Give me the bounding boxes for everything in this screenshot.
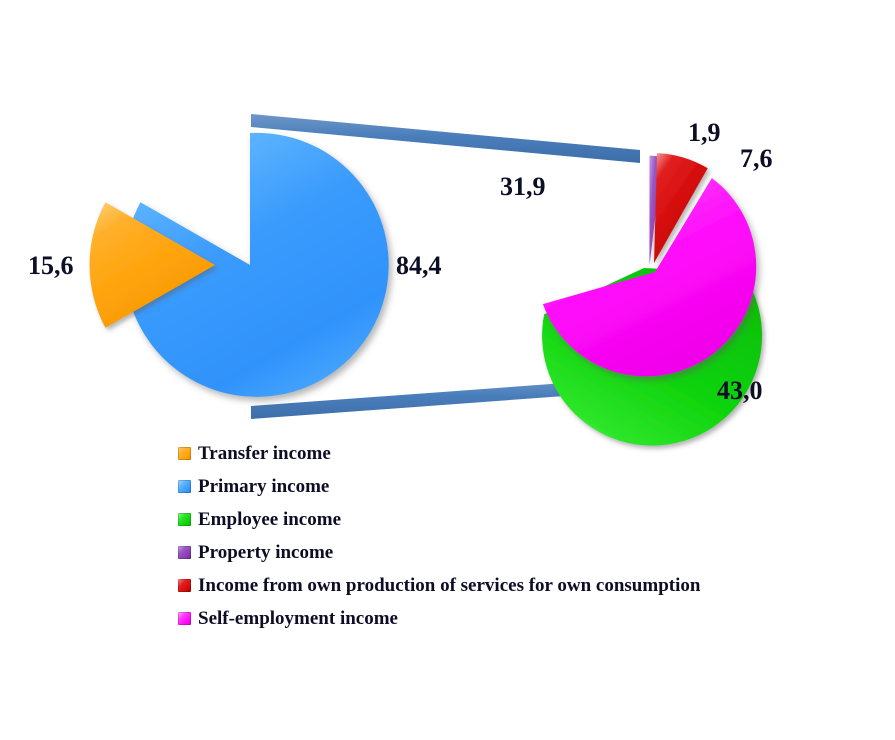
- legend-item-transfer-income[interactable]: Transfer income: [178, 437, 798, 470]
- legend-label-primary-income: Primary income: [198, 477, 329, 496]
- pie-of-pie-chart: 15,6 84,4 31,9 1,9 7,6 43,0 Transfer inc…: [0, 0, 895, 740]
- label-property-income-value: 1,9: [688, 118, 721, 148]
- legend-label-employee-income: Employee income: [198, 510, 341, 529]
- legend-swatch-primary-income: [178, 480, 191, 493]
- label-self-employment-income-value: 43,0: [717, 376, 763, 406]
- chart-legend: Transfer income Primary income Employee …: [178, 437, 798, 635]
- legend-item-primary-income[interactable]: Primary income: [178, 470, 798, 503]
- legend-item-self-employment-income[interactable]: Self-employment income: [178, 602, 798, 635]
- label-primary-income-value: 84,4: [396, 251, 442, 281]
- legend-swatch-own-production-income: [178, 579, 191, 592]
- legend-item-own-production-income[interactable]: Income from own production of services f…: [178, 569, 798, 602]
- secondary-pie: [525, 153, 798, 482]
- legend-label-property-income: Property income: [198, 543, 333, 562]
- legend-label-self-employment-income: Self-employment income: [198, 609, 398, 628]
- label-own-production-income-value: 7,6: [740, 144, 773, 174]
- legend-item-employee-income[interactable]: Employee income: [178, 503, 798, 536]
- legend-label-transfer-income: Transfer income: [198, 444, 331, 463]
- legend-swatch-employee-income: [178, 513, 191, 526]
- legend-item-property-income[interactable]: Property income: [178, 536, 798, 569]
- label-transfer-income-value: 15,6: [28, 251, 74, 281]
- legend-swatch-property-income: [178, 546, 191, 559]
- legend-swatch-transfer-income: [178, 447, 191, 460]
- legend-label-own-production-income: Income from own production of services f…: [198, 576, 700, 595]
- label-employee-income-value: 31,9: [500, 172, 546, 202]
- legend-swatch-self-employment-income: [178, 612, 191, 625]
